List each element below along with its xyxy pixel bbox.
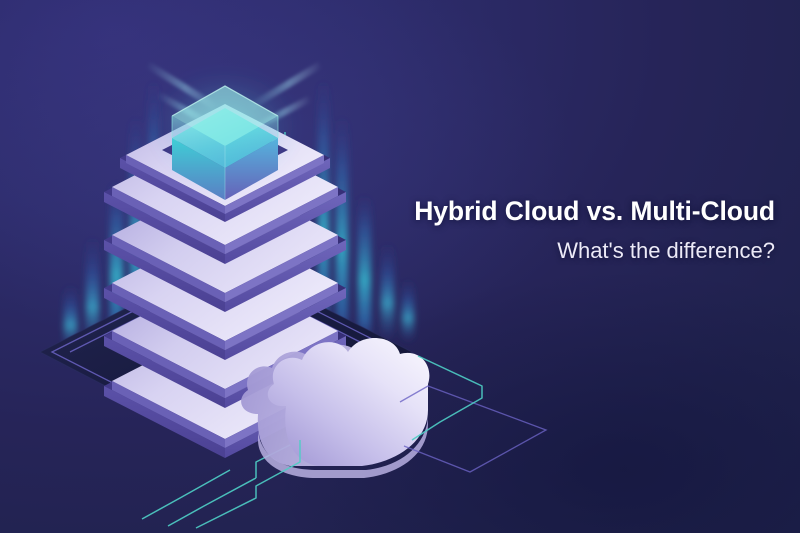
- page-subtitle: What's the difference?: [345, 238, 775, 264]
- page-title: Hybrid Cloud vs. Multi-Cloud: [345, 196, 775, 227]
- text-block: Hybrid Cloud vs. Multi-Cloud What's the …: [345, 196, 775, 265]
- promo-graphic: Hybrid Cloud vs. Multi-Cloud What's the …: [0, 0, 800, 533]
- isometric-illustration: [0, 0, 800, 533]
